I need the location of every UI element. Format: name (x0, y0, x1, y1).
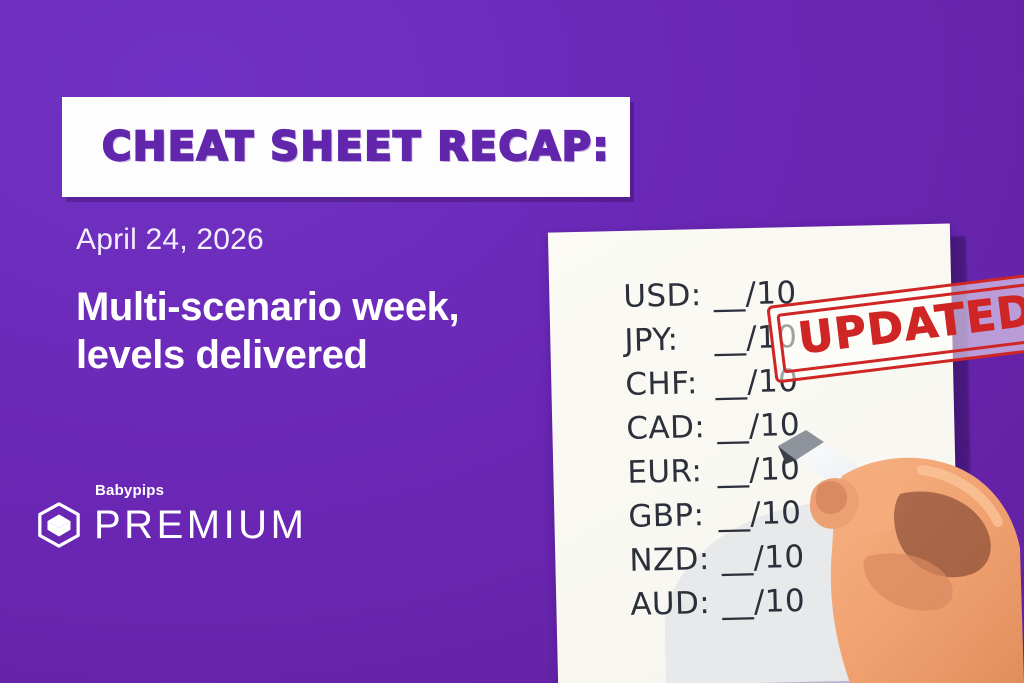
title-banner: CHEAT SHEET RECAP: (62, 97, 630, 197)
checklist-row: GBP: __/10 (628, 495, 804, 543)
currency-score: __/10 (717, 451, 801, 489)
currency-score: __/10 (718, 495, 802, 533)
date-label: April 24, 2026 (76, 223, 264, 257)
headline-line-1: Multi-scenario week, (76, 283, 576, 331)
page-title: CHEAT SHEET RECAP: (102, 124, 610, 170)
checklist-row: EUR: __/10 (627, 451, 803, 499)
cube-icon (36, 501, 82, 549)
currency-code: EUR: (627, 453, 706, 491)
headline-line-2: levels delivered (76, 331, 576, 379)
currency-code: USD: (623, 277, 702, 315)
premium-label: PREMIUM (94, 505, 307, 545)
currency-code: CHF: (625, 365, 704, 403)
currency-score: __/10 (717, 407, 801, 445)
currency-code: JPY: (624, 321, 703, 359)
brand-name: Babypips (95, 482, 307, 499)
currency-code: GBP: (628, 497, 707, 535)
stamp-label: UPDATED (796, 289, 1024, 363)
logo: Babypips PREMIUM (36, 482, 307, 549)
currency-score: __/10 (721, 539, 805, 577)
checklist-row: CAD: __/10 (626, 407, 802, 455)
currency-code: AUD: (630, 585, 711, 623)
logo-row: PREMIUM (36, 501, 307, 549)
checklist-row: AUD: __/10 (630, 583, 806, 631)
currency-code: NZD: (629, 541, 710, 579)
currency-code: CAD: (626, 409, 706, 447)
checklist-row: NZD: __/10 (629, 539, 805, 587)
headline: Multi-scenario week, levels delivered (76, 283, 576, 379)
poster-canvas: CHEAT SHEET RECAP: April 24, 2026 Multi-… (0, 0, 1024, 683)
currency-score: __/10 (722, 583, 806, 621)
